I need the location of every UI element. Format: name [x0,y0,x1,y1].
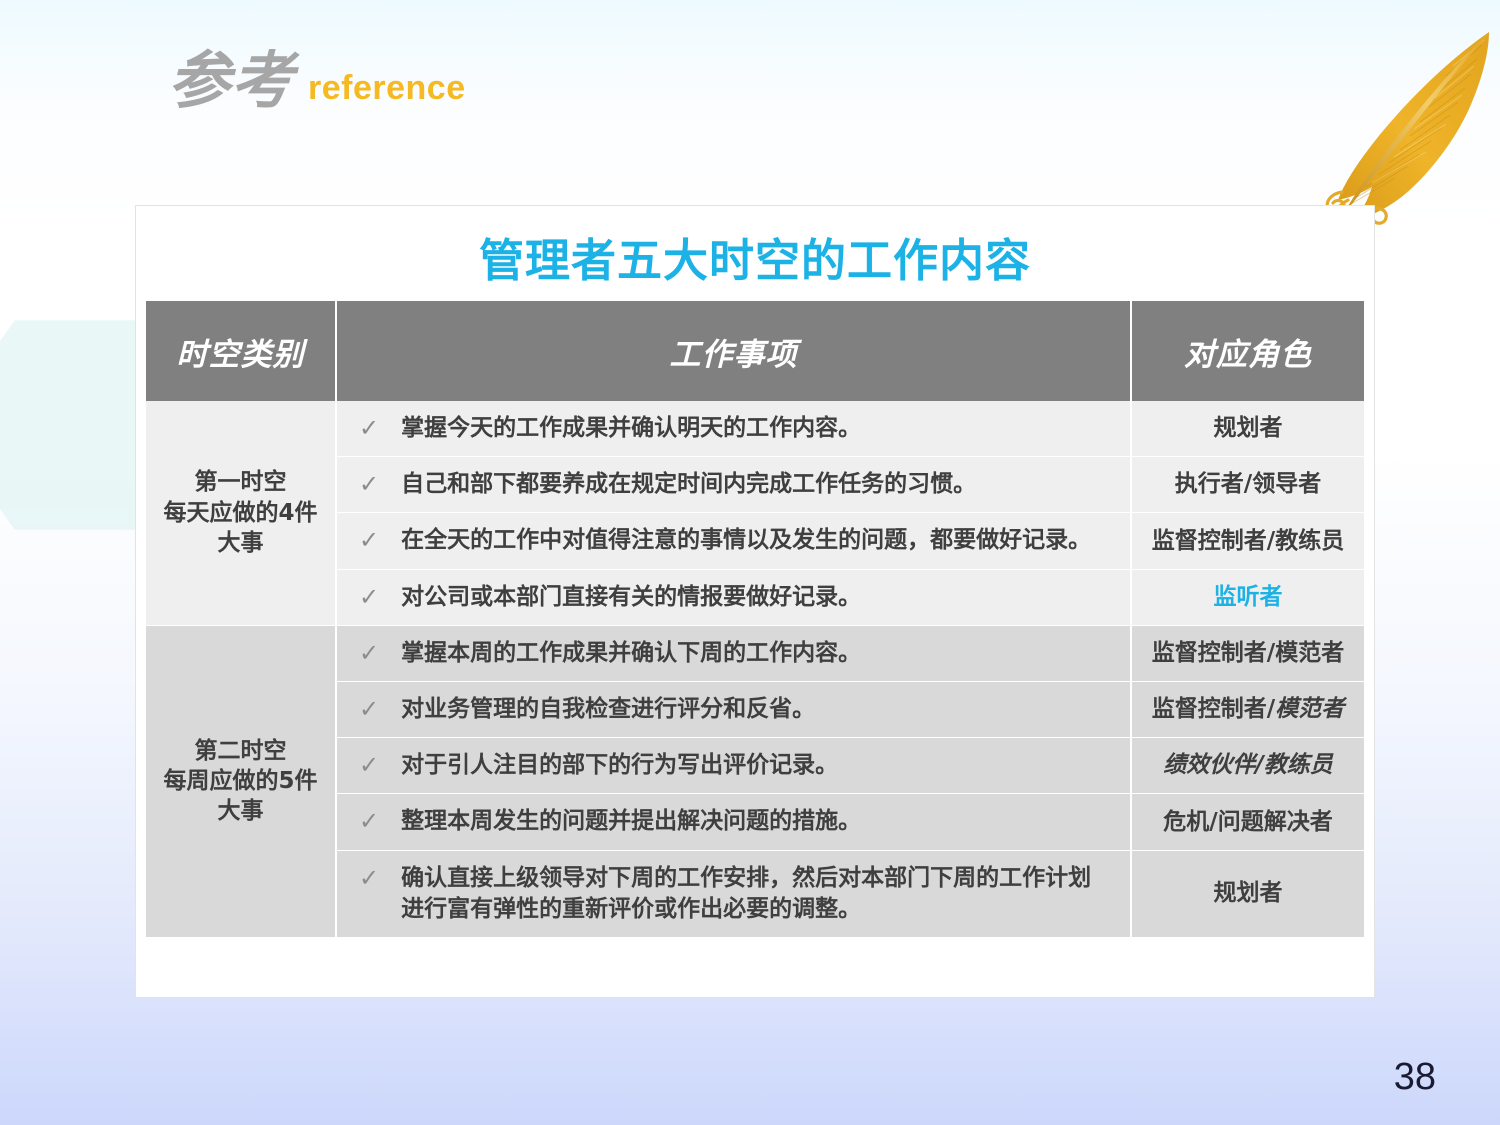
role-cell: 危机/问题解决者 [1131,794,1364,850]
work-item-text: 自己和部下都要养成在规定时间内完成工作任务的习惯。 [401,469,1112,500]
role-cell: 规划者 [1131,401,1364,457]
work-item-cell: ✓ 掌握今天的工作成果并确认明天的工作内容。 [336,401,1131,457]
section-first-timespace: 第一时空 每天应做的4件 大事 ✓ 掌握今天的工作成果并确认明天的工作内容。 规… [146,401,1364,625]
category-line: 每周应做的5件 [150,766,331,796]
column-header-role: 对应角色 [1131,301,1364,401]
work-item-cell: ✓ 对于引人注目的部下的行为写出评价记录。 [336,738,1131,794]
column-header-category: 时空类别 [146,301,336,401]
work-item-cell: ✓ 自己和部下都要养成在规定时间内完成工作任务的习惯。 [336,457,1131,513]
work-item-text: 在全天的工作中对值得注意的事情以及发生的问题，都要做好记录。 [401,525,1112,556]
slide-canvas: 参考 reference [0,0,1500,1125]
role-cell-highlighted: 监听者 [1131,569,1364,625]
column-header-work-item: 工作事项 [336,301,1131,401]
header-chinese-label: 参考 [168,52,294,111]
section-second-timespace: 第二时空 每周应做的5件 大事 ✓ 掌握本周的工作成果并确认下周的工作内容。 监… [146,625,1364,937]
work-item-text: 对业务管理的自我检查进行评分和反省。 [401,694,1112,725]
work-item-text: 整理本周发生的问题并提出解决问题的措施。 [401,806,1112,837]
category-line: 每天应做的4件 [150,498,331,528]
category-line: 第二时空 [150,736,331,766]
work-item-cell: ✓ 在全天的工作中对值得注意的事情以及发生的问题，都要做好记录。 [336,513,1131,569]
role-cell: 监督控制者/模范者 [1131,625,1364,681]
work-item-text: 对公司或本部门直接有关的情报要做好记录。 [401,582,1112,613]
role-cell: 规划者 [1131,850,1364,937]
check-icon: ✓ [359,525,379,556]
category-line: 大事 [150,796,331,826]
check-icon: ✓ [359,582,379,613]
role-cell: 监督控制者/模范者 [1131,681,1364,737]
work-item-text: 掌握今天的工作成果并确认明天的工作内容。 [401,413,1112,444]
table-header: 时空类别 工作事项 对应角色 [146,301,1364,401]
check-icon: ✓ [359,469,379,500]
work-item-text: 确认直接上级领导对下周的工作安排，然后对本部门下周的工作计划进行富有弹性的重新评… [401,863,1112,925]
role-cell: 执行者/领导者 [1131,457,1364,513]
work-item-cell: ✓ 对业务管理的自我检查进行评分和反省。 [336,681,1131,737]
role-text-italic: 模范者 [1275,696,1344,722]
panel-title: 管理者五大时空的工作内容 [136,224,1374,289]
category-cell-second-timespace: 第二时空 每周应做的5件 大事 [146,625,336,937]
work-content-table: 时空类别 工作事项 对应角色 第一时空 每天应做的4件 大事 ✓ [146,301,1364,938]
check-icon: ✓ [359,638,379,669]
table-row: 第一时空 每天应做的4件 大事 ✓ 掌握今天的工作成果并确认明天的工作内容。 规… [146,401,1364,457]
category-cell-first-timespace: 第一时空 每天应做的4件 大事 [146,401,336,625]
work-item-text: 掌握本周的工作成果并确认下周的工作内容。 [401,638,1112,669]
role-cell: 绩效伙伴/教练员 [1131,738,1364,794]
check-icon: ✓ [359,413,379,444]
slide-header: 参考 reference [168,52,466,111]
check-icon: ✓ [359,694,379,725]
role-text-prefix: 监督控制者/ [1152,696,1275,722]
category-line: 大事 [150,528,331,558]
check-icon: ✓ [359,750,379,781]
work-item-cell: ✓ 整理本周发生的问题并提出解决问题的措施。 [336,794,1131,850]
page-number: 38 [1394,1056,1436,1099]
work-item-cell: ✓ 确认直接上级领导对下周的工作安排，然后对本部门下周的工作计划进行富有弹性的重… [336,850,1131,937]
category-line: 第一时空 [150,467,331,497]
header-english-label: reference [308,71,466,111]
table-row: 第二时空 每周应做的5件 大事 ✓ 掌握本周的工作成果并确认下周的工作内容。 监… [146,625,1364,681]
check-icon: ✓ [359,863,379,894]
check-icon: ✓ [359,806,379,837]
role-cell: 监督控制者/教练员 [1131,513,1364,569]
work-item-cell: ✓ 掌握本周的工作成果并确认下周的工作内容。 [336,625,1131,681]
work-item-text: 对于引人注目的部下的行为写出评价记录。 [401,750,1112,781]
content-panel: 管理者五大时空的工作内容 时空类别 工作事项 对应角色 第一时空 每天应做的4件 [135,205,1375,998]
work-item-cell: ✓ 对公司或本部门直接有关的情报要做好记录。 [336,569,1131,625]
